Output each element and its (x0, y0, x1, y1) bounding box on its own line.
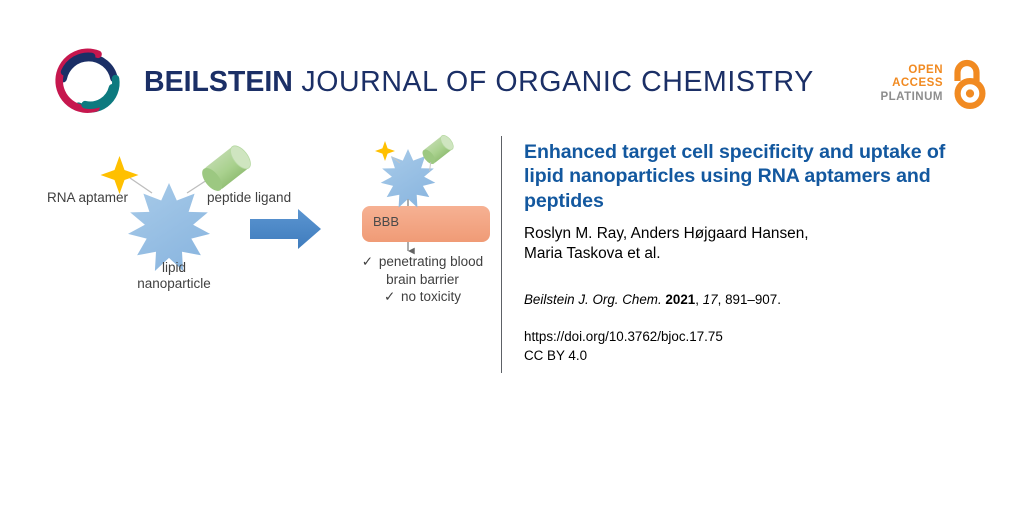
bullet-1-line2: brain barrier (386, 272, 459, 287)
license-label: CC BY 4.0 (524, 346, 974, 365)
figure-bullet-list: ✓ penetrating blood brain barrier ✓ no t… (350, 253, 495, 306)
open-lock-icon (948, 59, 986, 109)
masthead: BEILSTEIN JOURNAL OF ORGANIC CHEMISTRY O… (0, 0, 1024, 135)
checkmark-icon-1: ✓ (362, 254, 375, 269)
bullet-2: no toxicity (401, 289, 461, 304)
peptide-leader-line (187, 180, 207, 193)
peptide-ligand-cylinder-small-shape (417, 135, 457, 171)
oa-line-open: OPEN (880, 64, 943, 77)
citation-comma-1: , (695, 292, 699, 307)
beilstein-swirl-logo-icon (52, 46, 124, 118)
article-authors: Roslyn M. Ray, Anders Højgaard Hansen, M… (524, 224, 974, 265)
article-title: Enhanced target cell specificity and upt… (524, 140, 974, 213)
citation-pages: 891–907. (725, 292, 781, 307)
article-info: Enhanced target cell specificity and upt… (524, 140, 974, 365)
oa-line-platinum: PLATINUM (880, 91, 943, 104)
label-lipid-line1: lipid (162, 260, 186, 275)
graphical-abstract: RNA aptamer peptide ligand lipid nanopar… (40, 135, 490, 380)
aptamer-leader-line (130, 178, 152, 193)
article-citation: Beilstein J. Org. Chem. 2021, 17, 891–90… (524, 291, 974, 308)
transition-arrow-shape (250, 209, 321, 249)
authors-line-1: Roslyn M. Ray, Anders Højgaard Hansen, (524, 225, 809, 242)
label-bbb: BBB (373, 214, 399, 229)
label-lipid-nanoparticle: lipid nanoparticle (124, 260, 224, 292)
bullet-1-line1: penetrating blood (379, 254, 483, 269)
label-rna-aptamer: RNA aptamer (47, 190, 128, 206)
article-links: https://doi.org/10.3762/bjoc.17.75 CC BY… (524, 327, 974, 365)
citation-journal: Beilstein J. Org. Chem. (524, 292, 662, 307)
column-divider (501, 136, 502, 373)
wordmark-subtitle: JOURNAL OF ORGANIC CHEMISTRY (293, 66, 814, 98)
doi-link[interactable]: https://doi.org/10.3762/bjoc.17.75 (524, 327, 974, 346)
journal-brand[interactable]: BEILSTEIN JOURNAL OF ORGANIC CHEMISTRY (52, 52, 814, 112)
peptide-ligand-cylinder-shape (198, 142, 254, 194)
checkmark-icon-2: ✓ (384, 289, 397, 304)
open-access-text: OPEN ACCESS PLATINUM (880, 64, 943, 104)
wordmark-beilstein: BEILSTEIN (144, 66, 293, 98)
rna-aptamer-star-shape (101, 156, 139, 194)
citation-volume: 17 (703, 292, 718, 307)
authors-line-2: Maria Taskova et al. (524, 245, 661, 262)
label-peptide-ligand: peptide ligand (207, 190, 291, 206)
citation-comma-2: , (718, 292, 722, 307)
lipid-nanoparticle-shape (128, 183, 210, 271)
label-lipid-line2: nanoparticle (137, 276, 211, 291)
citation-year: 2021 (665, 292, 695, 307)
journal-wordmark: BEILSTEIN JOURNAL OF ORGANIC CHEMISTRY (144, 68, 814, 97)
open-access-badge[interactable]: OPEN ACCESS PLATINUM (880, 57, 986, 111)
rna-aptamer-star-small-shape (375, 141, 400, 163)
oa-line-access: ACCESS (880, 77, 943, 90)
